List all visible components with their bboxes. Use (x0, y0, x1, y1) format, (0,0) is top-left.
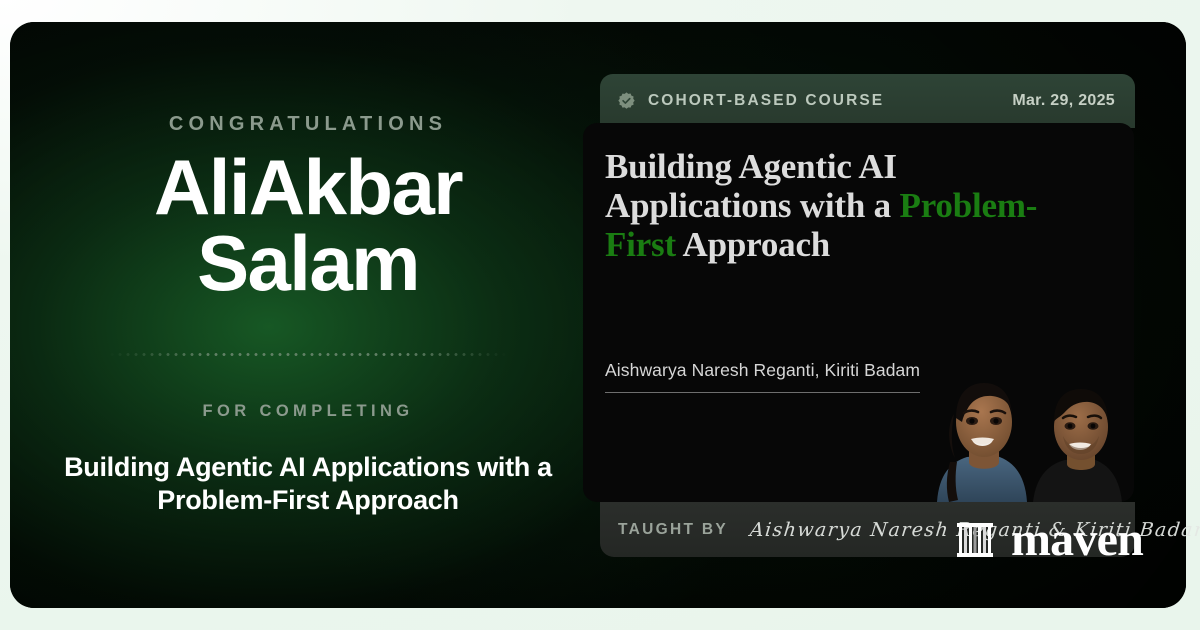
for-completing-label: FOR COMPLETING (202, 402, 413, 421)
maven-pillars-icon (955, 520, 995, 560)
course-date: Mar. 29, 2025 (1012, 92, 1115, 110)
certificate-page: CONGRATULATIONS AliAkbar Salam FOR COMPL… (0, 0, 1200, 630)
course-title-part-3: Approach (676, 225, 830, 264)
recipient-panel: CONGRATULATIONS AliAkbar Salam FOR COMPL… (10, 22, 606, 608)
maven-wordmark: maven (1011, 516, 1143, 564)
course-title-part-1: Building Agentic AI Applications with a (605, 147, 900, 225)
congratulations-label: CONGRATULATIONS (169, 113, 447, 136)
verified-check-badge-icon (616, 91, 637, 112)
course-card-header: COHORT-BASED COURSE Mar. 29, 2025 (600, 74, 1135, 128)
course-card-body: Building Agentic AI Applications with a … (583, 123, 1134, 502)
instructor-photo-kiriti (1025, 382, 1134, 502)
dotted-divider (108, 353, 508, 356)
taught-by-label: TAUGHT BY (618, 521, 728, 539)
instructor-photo-aishwarya (923, 374, 1041, 502)
recipient-name: AliAkbar Salam (46, 150, 570, 301)
course-title: Building Agentic AI Applications with a … (605, 148, 1060, 265)
completed-course-name: Building Agentic AI Applications with a … (58, 451, 558, 517)
course-type-kicker: COHORT-BASED COURSE (648, 92, 884, 110)
course-preview-card[interactable]: COHORT-BASED COURSE Mar. 29, 2025 Buildi… (583, 74, 1135, 484)
course-instructors: Aishwarya Naresh Reganti, Kiriti Badam (605, 360, 920, 393)
instructor-photos (921, 367, 1134, 502)
maven-logo[interactable]: maven (955, 516, 1143, 564)
